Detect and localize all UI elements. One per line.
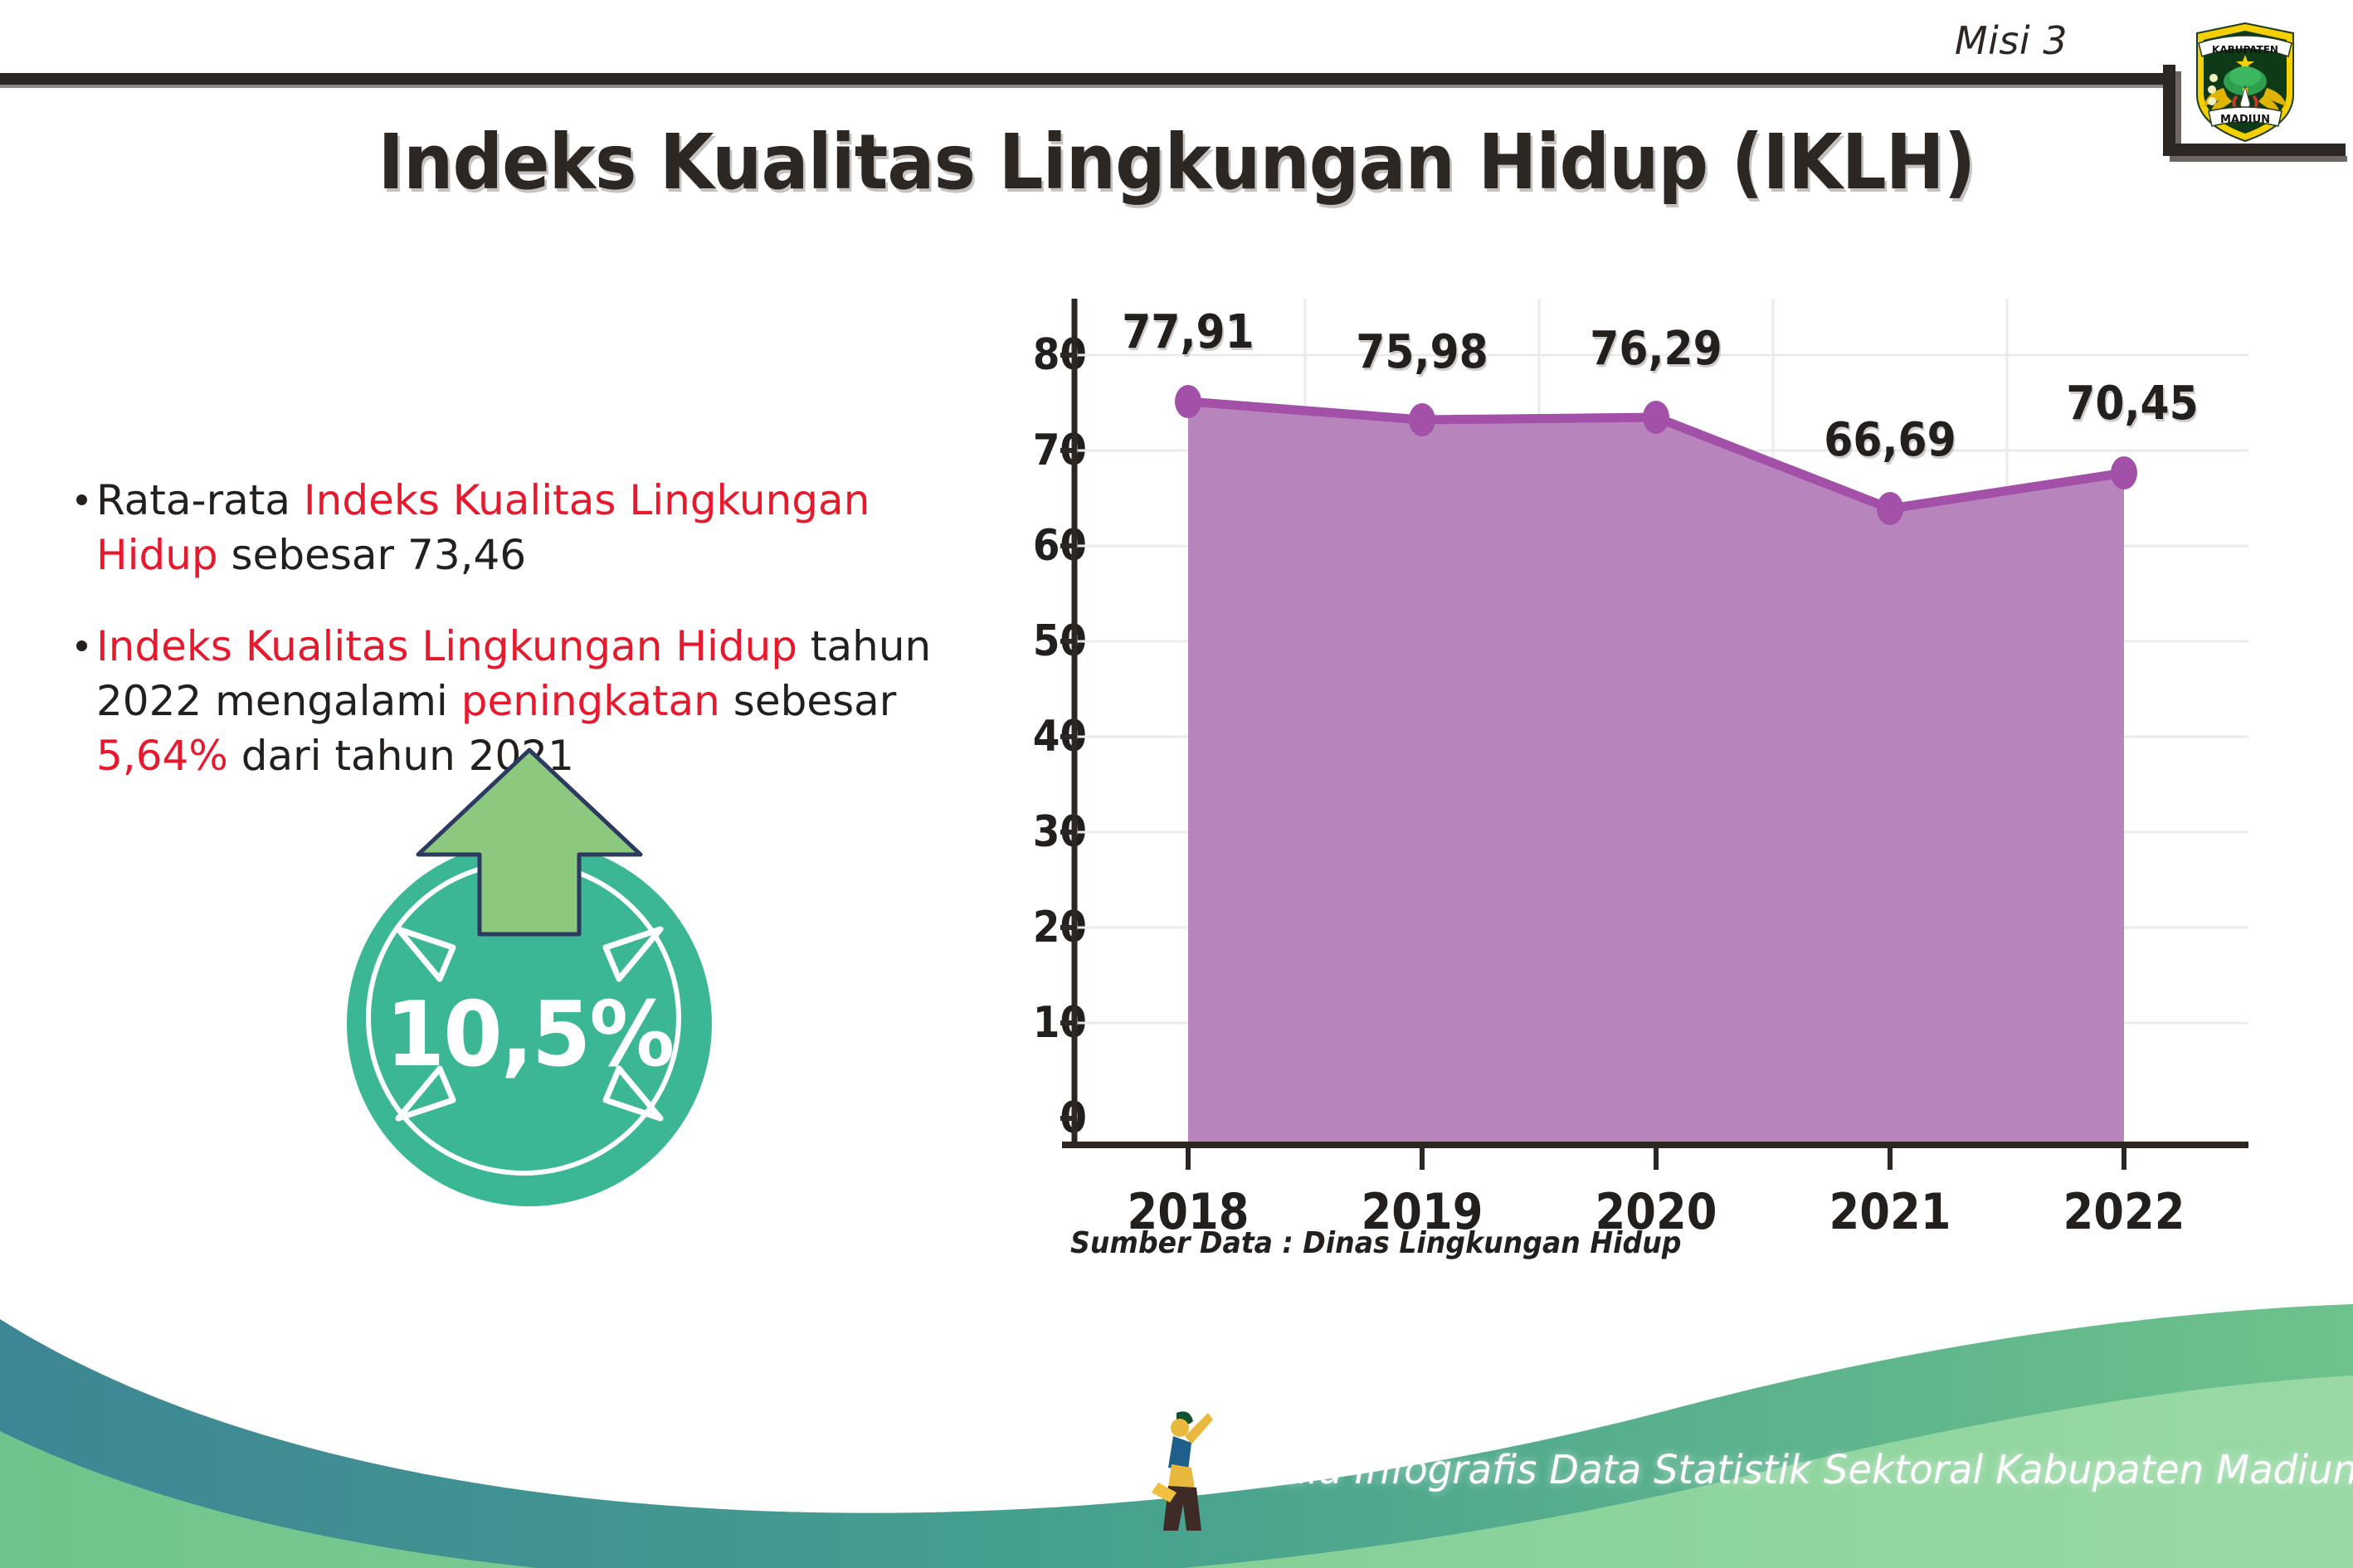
misi-label: Misi 3 [1955, 18, 2068, 63]
footer-caption: Media Infografis Data Statistik Sektoral… [1226, 1447, 2353, 1493]
data-label-2022: 70,45 [2028, 377, 2237, 431]
source-note: Sumber Data : Dinas Lingkungan Hidup [1070, 1226, 1681, 1260]
slide-canvas: Misi 3 KABUPATEN [0, 0, 2353, 1568]
data-label-2019: 75,98 [1318, 325, 1527, 379]
bullet2-part4: sebesar [720, 677, 896, 725]
bullet-item-average: Rata-rata Indeks Kualitas Lingkungan Hid… [71, 473, 967, 582]
header-rule [0, 73, 2174, 85]
data-label-2018: 77,91 [1084, 305, 1293, 359]
page-title: Indeks Kualitas Lingkungan Hidup (IKLH) [94, 118, 2258, 207]
svg-text:KABUPATEN: KABUPATEN [2212, 44, 2278, 56]
bullet2-part1-highlight: Indeks Kualitas Lingkungan Hidup [96, 622, 797, 670]
bullet1-part1: Rata-rata [96, 476, 304, 524]
iklh-area-chart: 80 70 60 50 40 30 20 10 0 [954, 282, 2282, 1211]
bullet2-part3-highlight: peningkatan [461, 677, 720, 725]
bullet1-part3: sebesar 73,46 [218, 531, 526, 579]
data-label-2020: 76,29 [1552, 322, 1761, 376]
area-fill [1188, 402, 2124, 1145]
percentage-badge: 10,5% [330, 747, 762, 1211]
x-tick-2022: 2022 [2022, 1183, 2226, 1241]
x-tick-2021: 2021 [1788, 1183, 1992, 1241]
bullet2-part5-highlight: 5,64% [96, 732, 228, 780]
footer-wave: Media Infografis Data Statistik Sektoral… [0, 1286, 2353, 1568]
up-arrow-icon [413, 747, 645, 962]
data-label-2021: 66,69 [1785, 413, 1995, 467]
badge-percent-value: 10,5% [340, 983, 719, 1087]
statistics-mascot-icon [1143, 1406, 1235, 1535]
